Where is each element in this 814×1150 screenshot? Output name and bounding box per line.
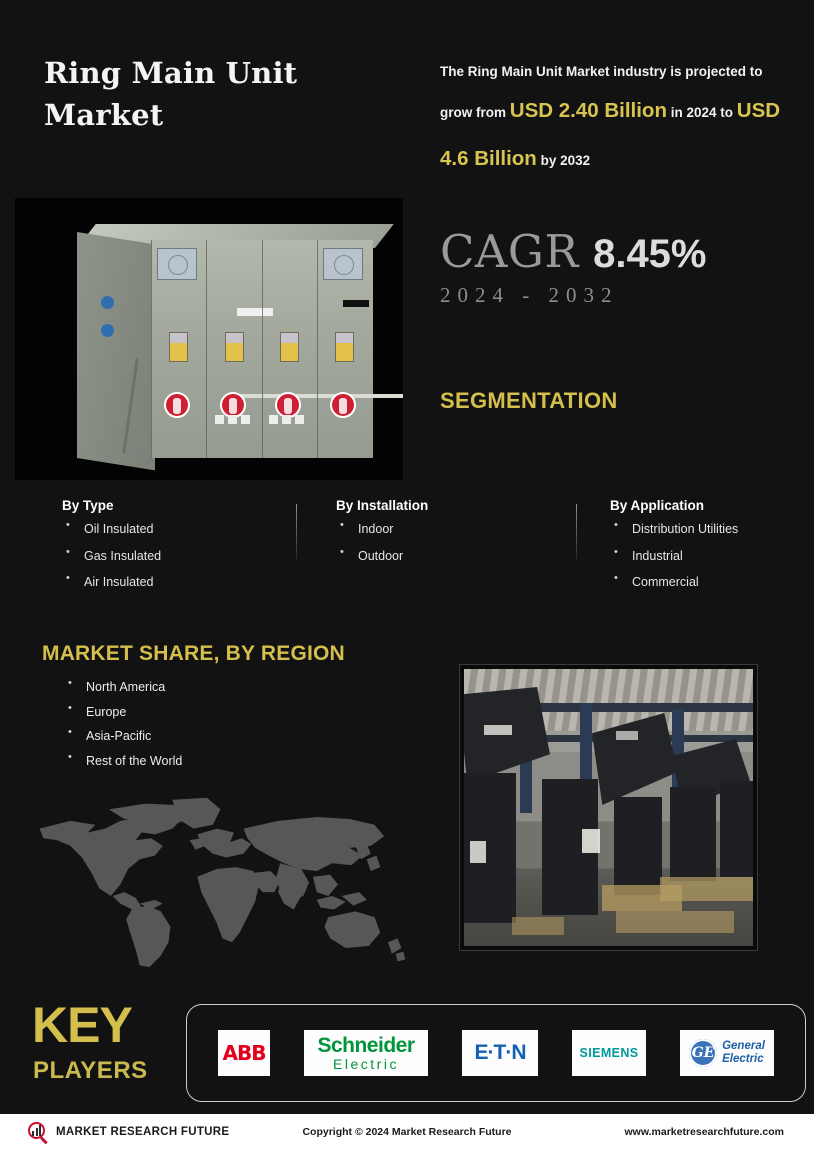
unit-tag [484,725,512,735]
wooden-pallet [616,911,734,933]
gauge-icon [323,248,363,280]
segmentation-columns: By Type Oil Insulated Gas Insulated Air … [44,498,784,608]
world-map-svg [28,795,413,970]
indicator-square [269,415,278,424]
logo-abb: ABB [218,1030,270,1076]
product-photo [15,198,403,480]
logo-eaton-text: E·T·N [475,1041,526,1065]
segmentation-column-by-application: By Application Distribution Utilities In… [610,498,814,603]
unit-tag [582,829,600,853]
world-map [28,795,413,970]
footer-url[interactable]: www.marketresearchfuture.com [624,1126,784,1138]
list-item: Industrial [610,550,814,563]
market-headline: The Ring Main Unit Market industry is pr… [440,56,785,183]
cabinet-side [77,232,155,470]
cagr-period: 2024 - 2032 [440,283,707,308]
gauge-icon [157,248,197,280]
logo-ge-line1: General [722,1040,765,1052]
segmentation-column-by-installation: By Installation Indoor Outdoor [336,498,536,576]
column-title: By Installation [336,498,536,513]
ge-monogram-icon: GE [689,1039,717,1067]
indicator-square [241,415,250,424]
wooden-pallet [512,917,564,935]
column-list: Indoor Outdoor [336,523,536,562]
danger-icon [330,392,356,418]
list-item: Air Insulated [62,576,272,589]
logo-abb-text: ABB [223,1041,266,1065]
switchgear-cabinet [77,218,377,466]
indicator-square [215,415,224,424]
segmentation-divider [576,504,577,562]
column-title: By Application [610,498,814,513]
unit-tag [616,731,638,740]
headline-grow-from: grow from [440,105,506,120]
column-list: Distribution Utilities Industrial Commer… [610,523,814,589]
unit-tag [470,841,486,863]
warning-label [225,332,244,362]
cagr-label: CAGR [440,225,579,278]
list-item: Distribution Utilities [610,523,814,536]
page-title: Ring Main Unit Market [44,52,404,136]
cagr-line: CAGR 8.45% [440,228,707,277]
list-item: Indoor [336,523,536,536]
factory-photo [460,665,757,950]
segmentation-heading: SEGMENTATION [440,388,618,414]
switchgear-unit [720,781,757,877]
map-continents [40,798,406,967]
list-item: Commercial [610,576,814,589]
indicator-square [228,415,237,424]
wooden-pallet [660,877,756,901]
valve-knob-icon [101,324,114,337]
segmentation-divider [296,504,297,562]
indicator-square [282,415,291,424]
warning-label [335,332,354,362]
headline-lead: The Ring Main Unit Market industry is pr… [440,64,763,79]
valve-knob-icon [101,296,114,309]
market-share-heading: MARKET SHARE, BY REGION [42,642,345,666]
cagr-block: CAGR 8.45% 2024 - 2032 [440,228,707,308]
logo-general-electric: GE General Electric [680,1030,774,1076]
list-item: Gas Insulated [62,550,272,563]
switchgear-unit [670,787,716,881]
headline-by-2032: by 2032 [541,153,591,168]
headline-value-2024: USD 2.40 Billion [510,99,667,122]
danger-icon [164,392,190,418]
warning-label [169,332,188,362]
infographic-page: Ring Main Unit Market The Ring Main Unit… [0,0,814,1150]
cagr-value: 8.45% [593,232,706,276]
logo-siemens: SIEMENS [572,1030,646,1076]
switchgear-unit [614,797,662,895]
list-item: Asia-Pacific [64,730,182,743]
logo-schneider-electric: Schneider Electric [304,1030,428,1076]
list-item: North America [64,681,182,694]
segmentation-column-by-type: By Type Oil Insulated Gas Insulated Air … [62,498,272,603]
key-players-heading-line1: KEY [32,1000,132,1050]
list-item: Rest of the World [64,755,182,768]
list-item: Oil Insulated [62,523,272,536]
key-players-logo-box: ABB Schneider Electric E·T·N SIEMENS GE … [186,1004,806,1102]
logo-ge-text: General Electric [722,1040,765,1066]
key-players-heading-line2: PLAYERS [33,1059,148,1083]
warning-label [280,332,299,362]
headline-in-2024: in 2024 to [671,105,733,120]
footer: MARKET RESEARCH FUTURE Copyright © 2024 … [0,1114,814,1150]
switchgear-unit [460,773,516,923]
column-list: Oil Insulated Gas Insulated Air Insulate… [62,523,272,589]
logo-siemens-text: SIEMENS [579,1046,638,1060]
cabinet-face [151,240,373,458]
logo-ge-line2: Electric [722,1053,764,1065]
column-title: By Type [62,498,272,513]
region-list: North America Europe Asia-Pacific Rest o… [64,681,182,779]
logo-eaton: E·T·N [462,1030,538,1076]
logo-schneider-line2: Electric [333,1057,399,1071]
list-item: Outdoor [336,550,536,563]
indicator-square [295,415,304,424]
list-item: Europe [64,706,182,719]
logo-schneider-line1: Schneider [317,1035,414,1056]
